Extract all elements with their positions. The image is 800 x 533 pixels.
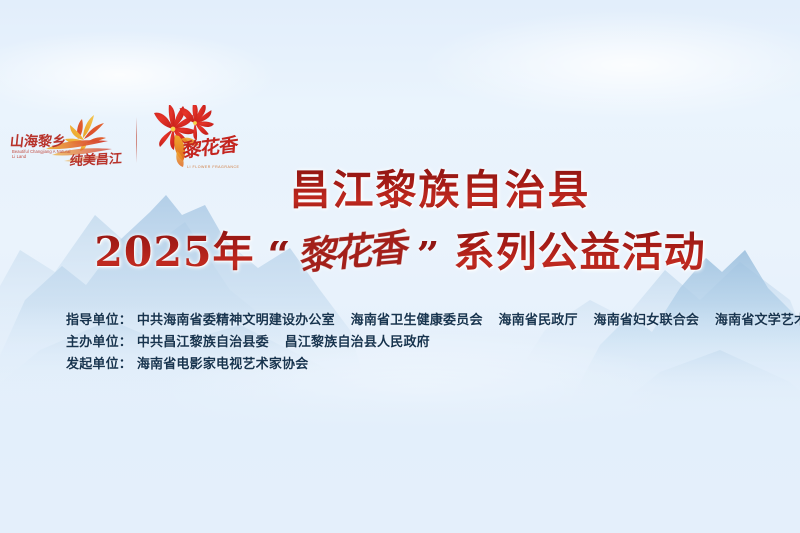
logo-divider	[136, 117, 137, 163]
org-name: 海南省民政厅	[498, 312, 577, 327]
changjiang-tourism-logo: 山海黎乡 Beautiful Changjiang A Natural Li L…	[8, 105, 130, 175]
credit-orgs: 中共海南省委精神文明建设办公室 海南省卫生健康委员会 海南省民政厅 海南省妇女联…	[137, 312, 800, 327]
subtitle-suffix: 系列公益活动	[454, 226, 706, 278]
calligraphy-lihuaxiang: 黎花香	[290, 221, 417, 283]
title-block: 昌江黎族自治县 2025年 “ 黎花香 ” 系列公益活动	[0, 166, 800, 278]
credit-row-initiator: 发起单位： 海南省电影家电视艺术家协会	[66, 353, 800, 375]
subtitle-line: 2025年 “ 黎花香 ” 系列公益活动	[0, 226, 800, 278]
logo-left-chinese-top: 山海黎乡	[9, 131, 67, 151]
quote-close: ”	[414, 241, 444, 271]
org-name: 中共海南省委精神文明建设办公室	[137, 312, 335, 327]
org-name: 海南省卫生健康委员会	[351, 312, 483, 327]
org-name: 中共昌江黎族自治县委	[137, 334, 269, 349]
credit-row-host: 主办单位： 中共昌江黎族自治县委 昌江黎族自治县人民政府	[66, 331, 800, 353]
org-name: 海南省妇女联合会	[594, 312, 700, 327]
credit-orgs: 中共昌江黎族自治县委 昌江黎族自治县人民政府	[137, 334, 430, 349]
credit-label: 指导单位：	[66, 312, 132, 327]
page-title: 昌江黎族自治县	[0, 166, 800, 214]
lihuaxiang-logo: 黎花香 LI FLOWER FRAGRANCE	[147, 105, 247, 175]
subtitle-year: 2025年	[94, 226, 254, 278]
credits-block: 指导单位： 中共海南省委精神文明建设办公室 海南省卫生健康委员会 海南省民政厅 …	[66, 309, 800, 375]
logo-left-english: Beautiful Changjiang A Natural Li Land	[12, 149, 74, 160]
credit-orgs: 海南省电影家电视艺术家协会	[137, 356, 309, 371]
credit-row-guidance: 指导单位： 中共海南省委精神文明建设办公室 海南省卫生健康委员会 海南省民政厅 …	[66, 309, 800, 331]
org-name: 昌江黎族自治县人民政府	[285, 334, 430, 349]
quote-open: “	[265, 241, 295, 271]
cloud-wisp	[420, 10, 800, 120]
org-name: 海南省文学艺术界联合会	[715, 312, 800, 327]
credit-label: 主办单位：	[66, 334, 132, 349]
org-name: 海南省电影家电视艺术家协会	[137, 356, 309, 371]
event-poster: 山海黎乡 Beautiful Changjiang A Natural Li L…	[0, 0, 800, 533]
credit-label: 发起单位：	[66, 356, 132, 371]
